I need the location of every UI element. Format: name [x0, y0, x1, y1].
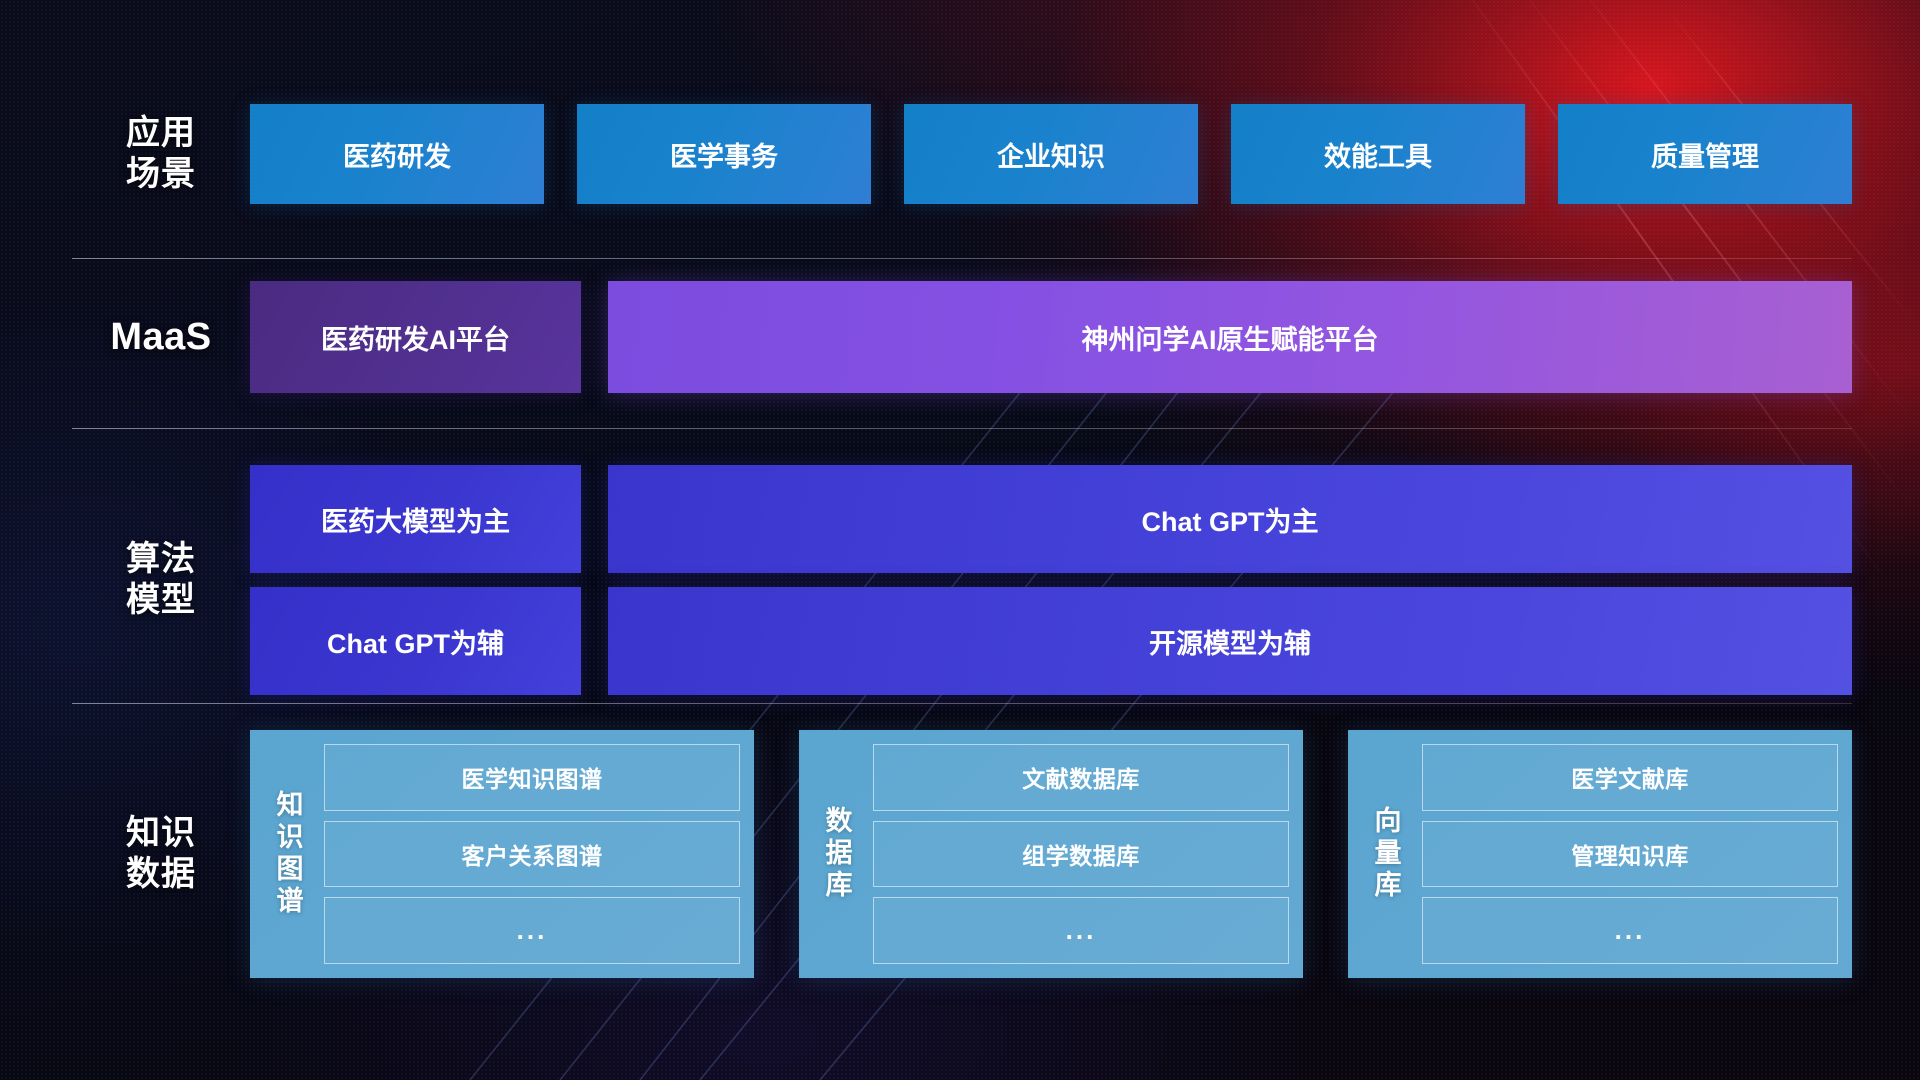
app-box-efficiency-tools[interactable]: 效能工具	[1231, 104, 1525, 204]
data-item-omics-database[interactable]: 组学数据库	[873, 821, 1289, 888]
algorithm-line-secondary: Chat GPT为辅 开源模型为辅	[250, 587, 1852, 695]
data-item-literature-database[interactable]: 文献数据库	[873, 744, 1289, 811]
row-label-line-1: 应用	[72, 113, 250, 154]
algo-box-chatgpt-primary[interactable]: Chat GPT为主	[608, 465, 1852, 573]
row-label-line-2: 模型	[126, 580, 196, 621]
row-label-algorithm-models: 算法 模型	[72, 465, 250, 695]
row-label-line-2: 场景	[72, 154, 250, 195]
row-label-line-1: 知识	[126, 813, 196, 854]
data-group-title-knowledge-graph: 知识图谱	[250, 744, 324, 964]
row-label-application-scenarios: 应用 场景	[72, 113, 250, 196]
app-box-drug-rd[interactable]: 医药研发	[250, 104, 544, 204]
data-group-title-vector-store: 向量库	[1348, 744, 1422, 964]
data-item-knowledge-graph-more[interactable]: ...	[324, 897, 740, 964]
maas-box-drug-rd-ai-platform[interactable]: 医药研发AI平台	[250, 281, 581, 393]
algorithm-model-boxes: 医药大模型为主 Chat GPT为主 Chat GPT为辅 开源模型为辅	[250, 465, 1852, 695]
algo-box-opensource-secondary[interactable]: 开源模型为辅	[608, 587, 1852, 695]
maas-boxes: 医药研发AI平台 神州问学AI原生赋能平台	[250, 281, 1852, 393]
data-group-items-database: 文献数据库 组学数据库 ...	[873, 744, 1289, 964]
algorithm-line-primary: 医药大模型为主 Chat GPT为主	[250, 465, 1852, 573]
row-maas: MaaS 医药研发AI平台 神州问学AI原生赋能平台	[72, 281, 1852, 393]
row-application-scenarios: 应用 场景 医药研发 医学事务 企业知识 效能工具 质量管理	[72, 104, 1852, 204]
row-knowledge-data: 知识 数据 知识图谱 医学知识图谱 客户关系图谱 ... 数据库 文献数据	[72, 730, 1852, 978]
data-group-title-database: 数据库	[799, 744, 873, 964]
data-item-management-knowledge-store[interactable]: 管理知识库	[1422, 821, 1838, 888]
app-box-enterprise-knowledge[interactable]: 企业知识	[904, 104, 1198, 204]
app-box-quality-management[interactable]: 质量管理	[1558, 104, 1852, 204]
row-label-line-1: 算法	[126, 539, 196, 580]
algo-box-pharma-llm-primary[interactable]: 医药大模型为主	[250, 465, 581, 573]
data-group-vector-store: 向量库 医学文献库 管理知识库 ...	[1348, 730, 1852, 978]
knowledge-data-groups: 知识图谱 医学知识图谱 客户关系图谱 ... 数据库 文献数据库 组学数据库 .…	[250, 730, 1852, 978]
data-item-customer-relation-graph[interactable]: 客户关系图谱	[324, 821, 740, 888]
row-label-knowledge-data: 知识 数据	[72, 730, 250, 978]
row-label-line-2: 数据	[126, 854, 196, 895]
divider-algo-data	[72, 703, 1852, 704]
app-box-medical-affairs[interactable]: 医学事务	[577, 104, 871, 204]
row-label-maas: MaaS	[72, 314, 250, 360]
architecture-diagram-slide: 应用 场景 医药研发 医学事务 企业知识 效能工具 质量管理 MaaS 医药研发…	[0, 0, 1920, 1080]
data-group-items-vector-store: 医学文献库 管理知识库 ...	[1422, 744, 1838, 964]
data-group-knowledge-graph: 知识图谱 医学知识图谱 客户关系图谱 ...	[250, 730, 754, 978]
divider-apps-maas	[72, 258, 1852, 259]
row-algorithm-models: 算法 模型 医药大模型为主 Chat GPT为主 Chat GPT为辅 开源模型…	[72, 465, 1852, 695]
data-item-medical-knowledge-graph[interactable]: 医学知识图谱	[324, 744, 740, 811]
algo-box-chatgpt-secondary[interactable]: Chat GPT为辅	[250, 587, 581, 695]
maas-box-shenzhou-wenxue-platform[interactable]: 神州问学AI原生赋能平台	[608, 281, 1852, 393]
data-group-database: 数据库 文献数据库 组学数据库 ...	[799, 730, 1303, 978]
data-group-items-knowledge-graph: 医学知识图谱 客户关系图谱 ...	[324, 744, 740, 964]
data-item-database-more[interactable]: ...	[873, 897, 1289, 964]
diagram-content: 应用 场景 医药研发 医学事务 企业知识 效能工具 质量管理 MaaS 医药研发…	[0, 0, 1920, 1080]
application-scenario-boxes: 医药研发 医学事务 企业知识 效能工具 质量管理	[250, 104, 1852, 204]
data-item-vector-store-more[interactable]: ...	[1422, 897, 1838, 964]
data-item-medical-literature-store[interactable]: 医学文献库	[1422, 744, 1838, 811]
divider-maas-algo	[72, 428, 1852, 429]
